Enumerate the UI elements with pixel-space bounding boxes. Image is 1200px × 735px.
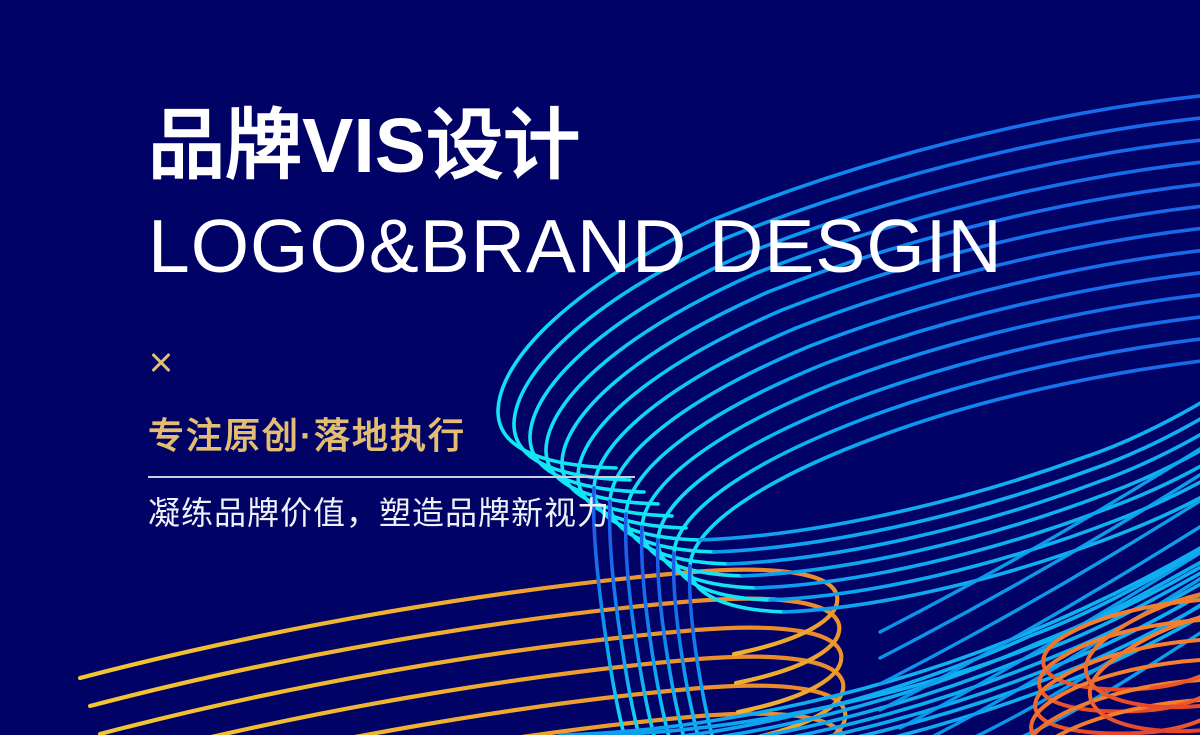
- brand-vis-banner: 品牌VIS设计 LOGO&BRAND DESGIN 专注原创·落地执行 凝练品牌…: [0, 0, 1200, 735]
- tagline-gold: 专注原创·落地执行: [148, 418, 1108, 454]
- cross-mark-icon: [148, 350, 174, 376]
- headline-chinese: 品牌VIS设计: [148, 108, 1108, 185]
- subtitle-text: 凝练品牌价值，塑造品牌新视力: [148, 494, 1108, 532]
- headline-english: LOGO&BRAND DESGIN: [148, 209, 1108, 284]
- banner-text-block: 品牌VIS设计 LOGO&BRAND DESGIN 专注原创·落地执行 凝练品牌…: [148, 108, 1108, 532]
- gold-coil: [80, 570, 845, 735]
- orange-coil: [1025, 592, 1200, 735]
- horizontal-rule: [148, 476, 635, 478]
